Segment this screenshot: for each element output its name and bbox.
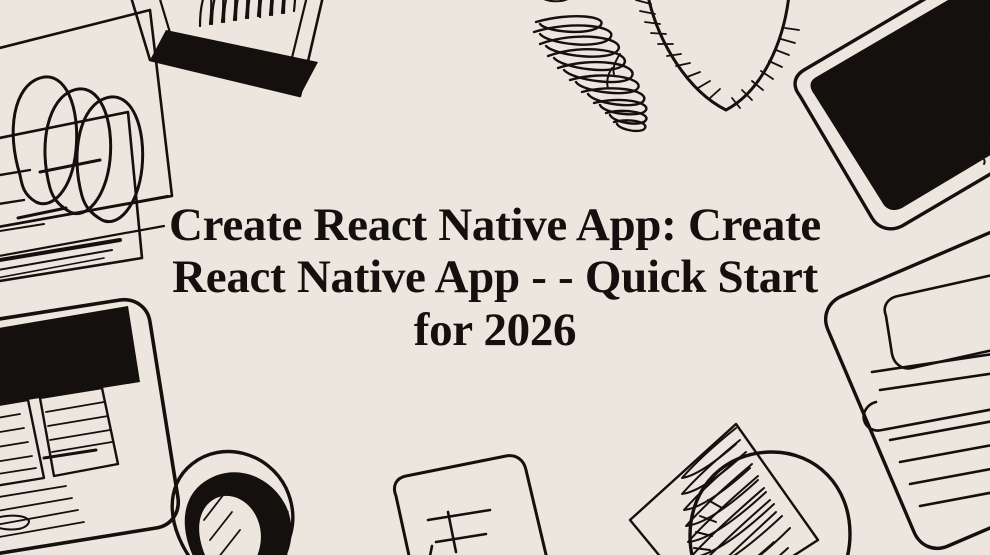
slide-canvas: Create React Native App: Create React Na… [0, 0, 990, 555]
hero-section: Create React Native App: Create React Na… [0, 0, 990, 555]
page-title: Create React Native App: Create React Na… [115, 199, 875, 357]
